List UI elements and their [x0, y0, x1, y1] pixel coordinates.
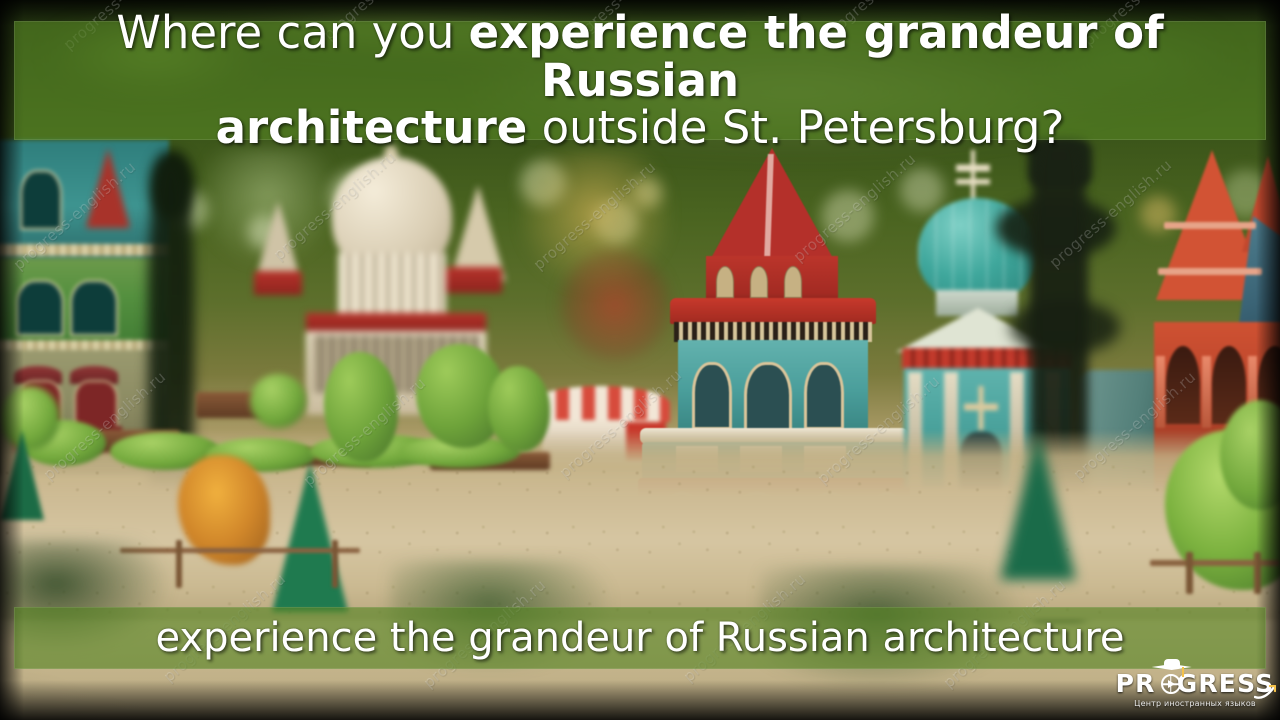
model-topiary: [488, 366, 550, 452]
progress-logo[interactable]: PRGRESS Центр иностранных языков: [1124, 660, 1266, 708]
model-conifer-tree: [0, 430, 44, 520]
model-conifer-tree: [272, 462, 348, 612]
caption-suffix: outside St. Petersburg?: [527, 101, 1064, 154]
cap-mortarboard: [1152, 664, 1192, 670]
model-fence-post: [332, 540, 338, 588]
model-bush: [250, 374, 306, 428]
caption-prefix: Where can you: [116, 6, 468, 59]
model-fence-post: [176, 540, 182, 588]
model-spire-left: [86, 148, 130, 228]
cap-tassel: [1182, 667, 1184, 677]
model-conifer-tree: [1000, 430, 1076, 580]
bottom-caption-banner: experience the grandeur of Russian archi…: [14, 607, 1266, 669]
play-triangle-icon: [1168, 680, 1175, 688]
model-topiary: [324, 352, 398, 462]
swoosh-icon: [1254, 685, 1276, 701]
caption-emphasis-line2: architecture: [216, 101, 528, 154]
screenshot-root: progress-english.ru progress-english.ru …: [0, 0, 1280, 720]
logo-subtitle: Центр иностранных языков: [1134, 699, 1256, 708]
top-caption-banner: Where can you experience the grandeur of…: [14, 21, 1266, 140]
model-fence-post: [1254, 552, 1261, 594]
graduation-cap-icon: [1152, 659, 1192, 675]
top-caption-text: Where can you experience the grandeur of…: [24, 9, 1256, 152]
bottom-caption-text: experience the grandeur of Russian archi…: [155, 617, 1124, 659]
logo-word-part1: PR: [1116, 671, 1156, 696]
model-building-cathedral: [250, 145, 550, 405]
globe-play-icon: [1161, 674, 1181, 694]
model-fence-post: [1186, 552, 1193, 594]
caption-emphasis-line1: experience the grandeur of Russian: [469, 6, 1164, 107]
logo-wordmark: PRGRESS: [1116, 671, 1275, 696]
